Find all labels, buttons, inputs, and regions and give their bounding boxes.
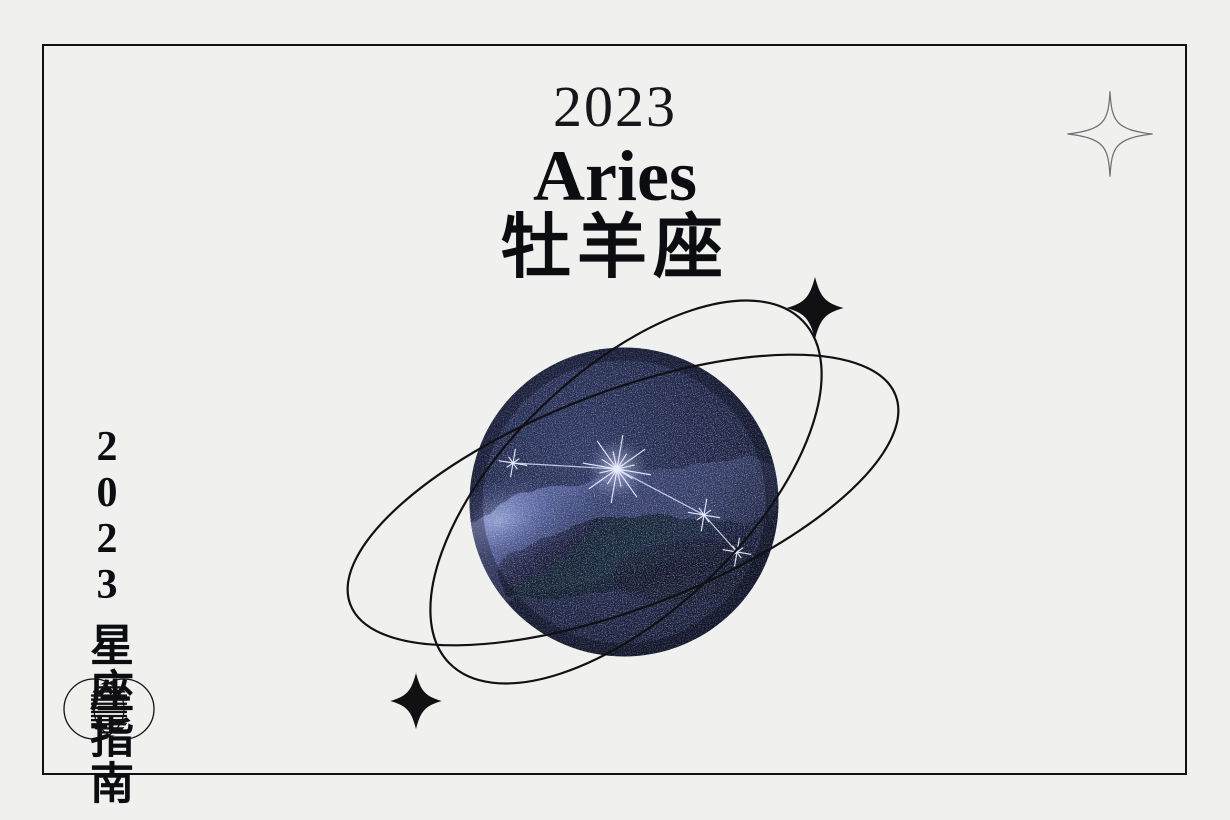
venn-circles-logo [61,678,157,740]
starfield-sphere [403,338,797,668]
sparkle-star-bottom-left [390,673,442,729]
page-title-sign-en: Aries [0,136,1230,216]
page-title-sign-cn: 牡羊座 [0,210,1230,288]
zodiac-poster: 2023 Aries 牡羊座 2023 星座指南 [0,0,1230,820]
side-year-label: 2023 [86,424,128,608]
side-vertical-text: 2023 星座指南 [79,424,135,806]
title-block: 2023 Aries 牡羊座 [0,76,1230,288]
page-title-year: 2023 [0,76,1230,138]
